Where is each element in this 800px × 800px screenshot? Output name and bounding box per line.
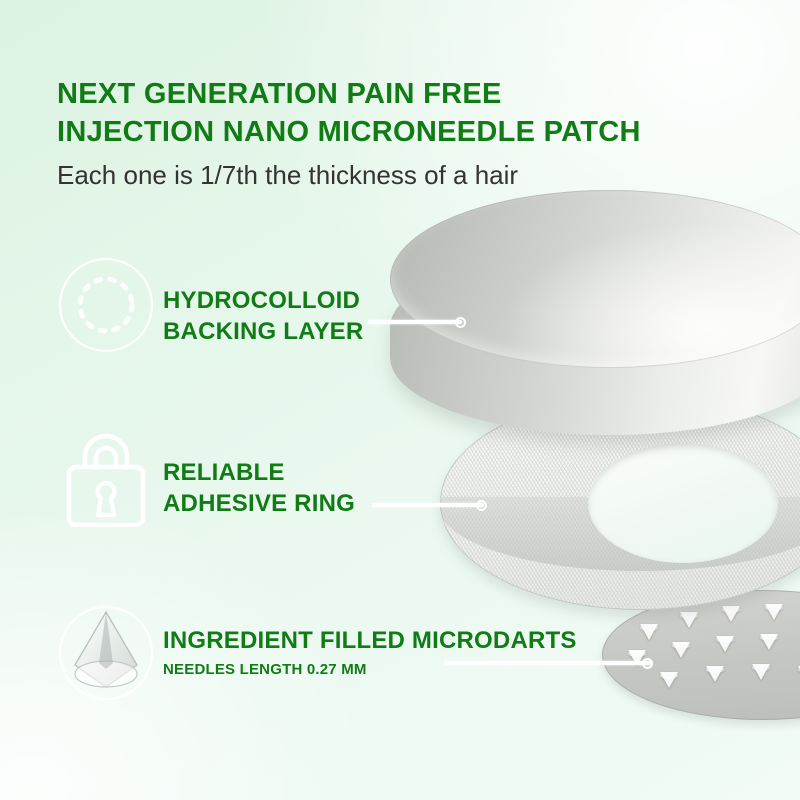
headline-line-1: NEXT GENERATION PAIN FREE — [57, 75, 667, 113]
feature-subtitle: NEEDLES LENGTH 0.27 MM — [163, 661, 583, 678]
feature-text-adhesive: RELIABLE ADHESIVE RING — [163, 457, 583, 519]
feature-row-microdarts: INGREDIENT FILLED MICRODARTS NEEDLES LEN… — [0, 603, 800, 713]
dotted-circle-icon — [57, 255, 155, 355]
microdart-icon — [57, 603, 155, 703]
padlock-icon — [57, 427, 155, 527]
headline-line-2: INJECTION NANO MICRONEEDLE PATCH — [57, 113, 667, 151]
feature-row-adhesive: RELIABLE ADHESIVE RING — [0, 427, 800, 537]
headline-subtitle: Each one is 1/7th the thickness of a hai… — [57, 160, 518, 191]
feature-text-hydrocolloid: HYDROCOLLOID BACKING LAYER — [163, 285, 583, 347]
infographic-poster: NEXT GENERATION PAIN FREE INJECTION NANO… — [0, 0, 800, 800]
feature-text-microdarts: INGREDIENT FILLED MICRODARTS NEEDLES LEN… — [163, 625, 583, 678]
feature-title-line-2: BACKING LAYER — [163, 316, 583, 347]
feature-row-hydrocolloid: HYDROCOLLOID BACKING LAYER — [0, 255, 800, 365]
feature-title-line-1: HYDROCOLLOID — [163, 285, 583, 316]
feature-title-line-2: ADHESIVE RING — [163, 488, 583, 519]
feature-title-line-1: RELIABLE — [163, 457, 583, 488]
headline-block: NEXT GENERATION PAIN FREE INJECTION NANO… — [57, 75, 667, 151]
feature-title-line-1: INGREDIENT FILLED MICRODARTS — [163, 625, 583, 656]
